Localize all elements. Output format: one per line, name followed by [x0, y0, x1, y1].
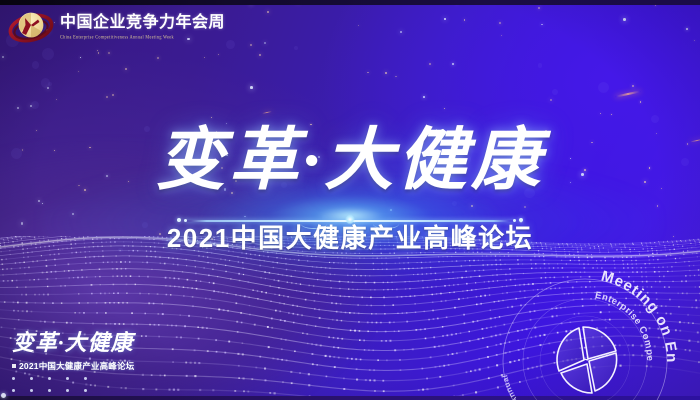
watermark-accent-dot: [1, 393, 6, 398]
watermark-subtitle: 2021中国大健康产业高峰论坛: [19, 360, 134, 372]
divider-dot-left-outer: [177, 218, 181, 222]
watermark-subtitle-row: 2021中国大健康产业高峰论坛: [12, 360, 192, 372]
divider-dot-right-inner: [513, 219, 516, 222]
top-edge-strip: [0, 0, 700, 5]
gold-sphere-red-swoosh-emblem: [8, 9, 54, 45]
header-title-cn: 中国企业竞争力年会周: [60, 15, 225, 32]
divider-dot-left-inner: [184, 219, 187, 222]
square-bullet-icon: [12, 364, 16, 368]
divider-dot-right-outer: [519, 218, 523, 222]
event-subtitle: 2021中国大健康产业高峰论坛: [0, 225, 700, 251]
meeting-on-enterprise-competitiveness-seal: Meeting on Enterprise Co mpetitivenessCh…: [495, 283, 700, 400]
segmented-sphere-icon: [557, 327, 617, 393]
watermark-title: 变革·大健康: [12, 332, 192, 354]
watermark-block: 变革·大健康 2021中国大健康产业高峰论坛: [12, 332, 192, 400]
main-title: 变革·大健康: [0, 126, 700, 194]
event-poster: 中国企业竞争力年会周 China Enterprise Competitiven…: [0, 0, 700, 400]
watermark-dot-grid: [12, 377, 192, 400]
header-title-en: China Enterprise Competitiveness Annual …: [60, 34, 225, 40]
header-logo: 中国企业竞争力年会周 China Enterprise Competitiven…: [8, 8, 225, 46]
